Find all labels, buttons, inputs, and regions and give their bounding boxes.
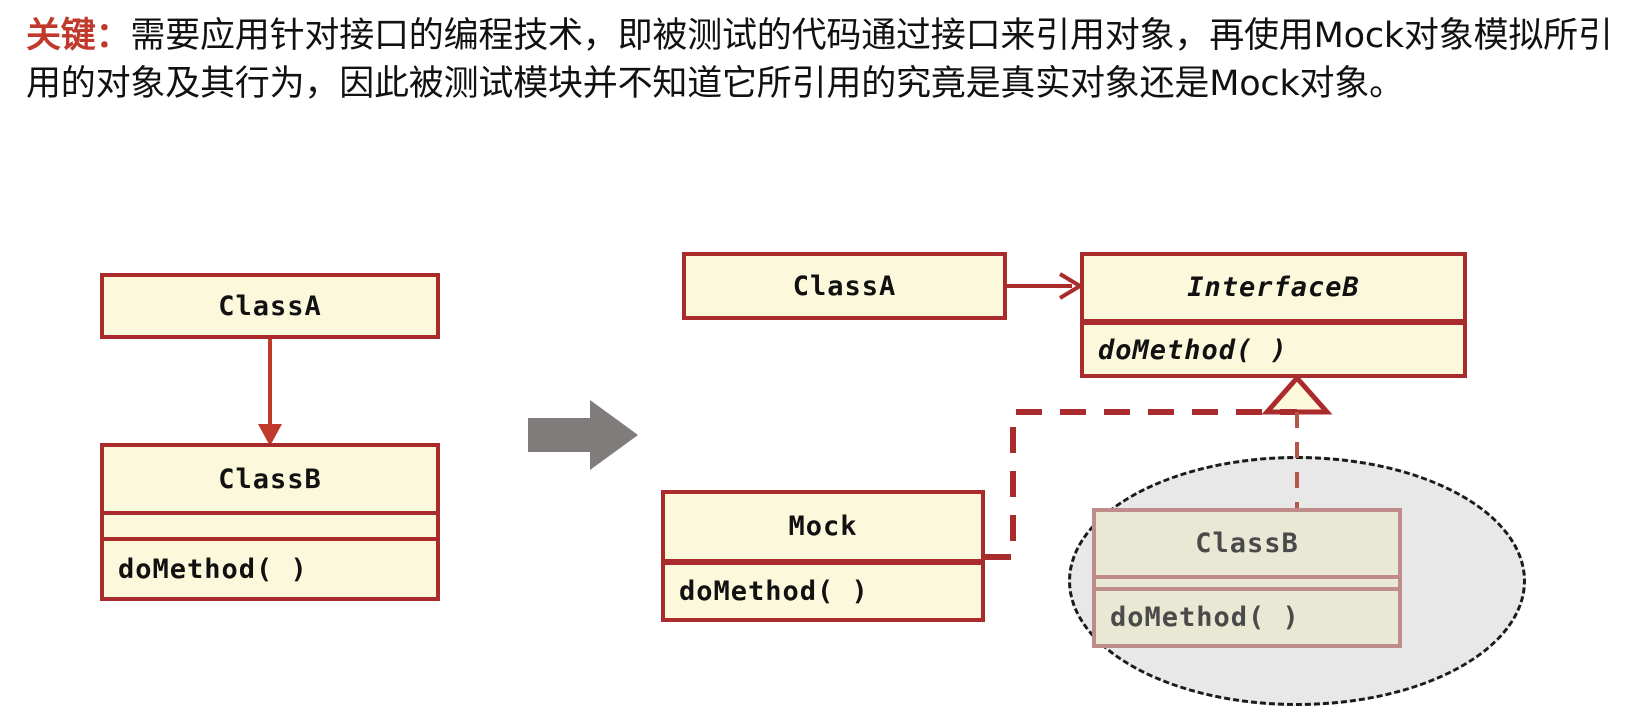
- interfaceB-name: InterfaceB: [1084, 256, 1463, 319]
- right-classA-name: ClassA: [686, 256, 1003, 316]
- mock-name: Mock: [665, 494, 981, 559]
- right-classB-attributes: [1096, 575, 1398, 587]
- mock-method: doMethod( ): [665, 559, 981, 618]
- left-classA-name: ClassA: [104, 277, 436, 335]
- left-classB-attributes: [104, 511, 436, 537]
- realization-triangle-icon: [1267, 378, 1327, 412]
- connector-classA-to-interfaceB: [1007, 274, 1080, 298]
- left-classB-box[interactable]: ClassB doMethod( ): [100, 443, 440, 601]
- left-classA-box[interactable]: ClassA: [100, 273, 440, 339]
- mock-box[interactable]: Mock doMethod( ): [661, 490, 985, 622]
- right-arrow-icon: [524, 396, 642, 474]
- left-classB-name: ClassB: [104, 447, 436, 511]
- interfaceB-box[interactable]: InterfaceB doMethod( ): [1080, 252, 1467, 378]
- left-classB-method: doMethod( ): [104, 537, 436, 597]
- interfaceB-method: doMethod( ): [1084, 319, 1463, 375]
- right-classA-box[interactable]: ClassA: [682, 252, 1007, 320]
- connector-classA-to-classB: [258, 338, 282, 446]
- right-classB-box[interactable]: ClassB doMethod( ): [1092, 508, 1402, 648]
- uml-diagram: ClassA ClassB doMethod( ) ClassA Interfa…: [0, 0, 1632, 722]
- right-classB-name: ClassB: [1096, 512, 1398, 575]
- right-classB-method: doMethod( ): [1096, 587, 1398, 644]
